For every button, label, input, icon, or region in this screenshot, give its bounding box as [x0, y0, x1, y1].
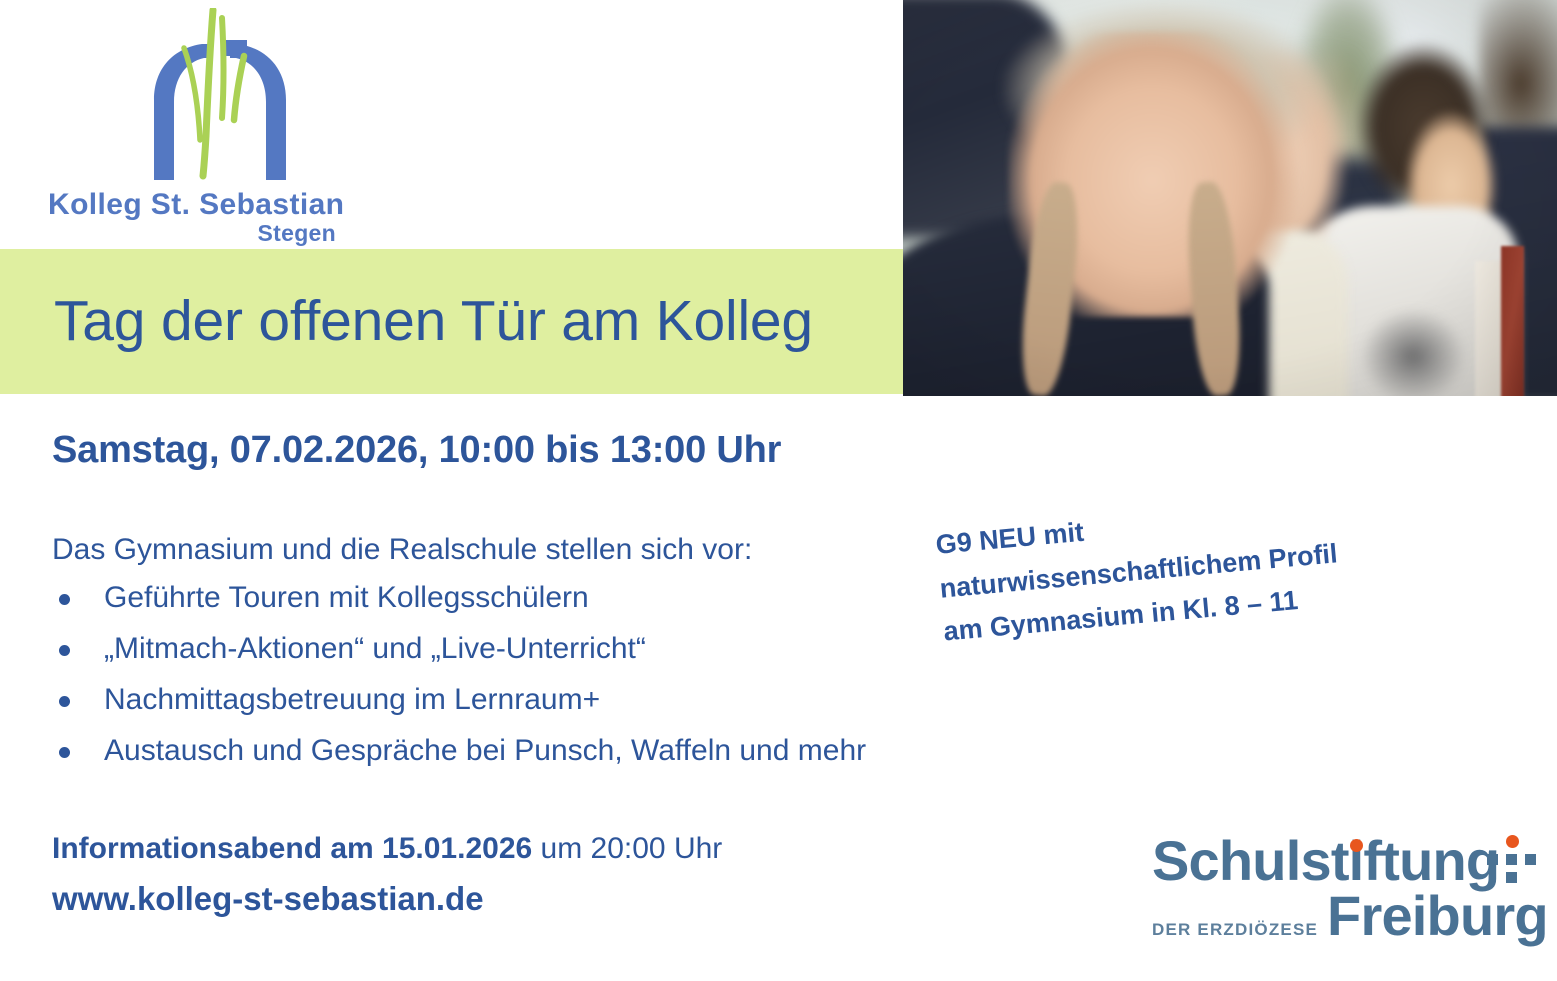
intro-text: Das Gymnasium und die Realschule stellen… [52, 533, 752, 567]
students-photo [903, 0, 1557, 396]
list-item: Geführte Touren mit Kollegsschülern [52, 580, 992, 631]
bullet-label: „Mitmach-Aktionen“ und „Live-Unterricht“ [104, 631, 646, 668]
schulstiftung-freiburg-logo: Schulstiftung DER ERZDIÖZESE Freiburg [1152, 833, 1552, 963]
list-item: Austausch und Gespräche bei Punsch, Waff… [52, 733, 992, 784]
foundation-subtitle: DER ERZDIÖZESE [1152, 920, 1318, 940]
info-regular-part: um 20:00 Uhr [532, 832, 722, 865]
school-location: Stegen [48, 222, 348, 245]
event-date-line: Samstag, 07.02.2026, 10:00 bis 13:00 Uhr [52, 429, 781, 472]
foundation-name-line1: Schulstiftung [1152, 833, 1499, 889]
orange-dot-icon [1350, 839, 1363, 852]
title-band: Tag der offenen Tür am Kolleg [0, 249, 903, 394]
arch-with-grass-icon [140, 8, 300, 186]
foundation-name-line2-row: DER ERZDIÖZESE Freiburg [1152, 888, 1548, 944]
bullet-dot-icon [59, 594, 70, 605]
g9-highlight-block: G9 NEU mit naturwissenschaftlichem Profi… [934, 474, 1503, 654]
program-bullet-list: Geführte Touren mit Kollegsschülern „Mit… [52, 580, 992, 784]
foundation-city: Freiburg [1327, 888, 1548, 944]
bullet-label: Nachmittagsbetreuung im Lernraum+ [104, 682, 600, 719]
page-title: Tag der offenen Tür am Kolleg [54, 293, 813, 350]
list-item: Nachmittagsbetreuung im Lernraum+ [52, 682, 992, 733]
bullet-label: Geführte Touren mit Kollegsschülern [104, 580, 589, 617]
school-logo: Kolleg St. Sebastian Stegen [48, 8, 368, 243]
school-logo-wordmark: Kolleg St. Sebastian Stegen [48, 190, 348, 245]
list-item: „Mitmach-Aktionen“ und „Live-Unterricht“ [52, 631, 992, 682]
poster-root: Kolleg St. Sebastian Stegen Tag der offe… [0, 0, 1557, 981]
bullet-label: Austausch und Gespräche bei Punsch, Waff… [104, 733, 866, 770]
bullet-dot-icon [59, 747, 70, 758]
photo-vignette [903, 0, 1557, 396]
bullet-dot-icon [59, 645, 70, 656]
school-name: Kolleg St. Sebastian [48, 190, 348, 221]
bullet-dot-icon [59, 696, 70, 707]
dot-grid-icon [1481, 835, 1541, 883]
info-bold-part: Informationsabend am 15.01.2026 [52, 832, 532, 865]
website-link[interactable]: www.kolleg-st-sebastian.de [52, 880, 484, 918]
info-evening-line: Informationsabend am 15.01.2026 um 20:00… [52, 832, 722, 866]
